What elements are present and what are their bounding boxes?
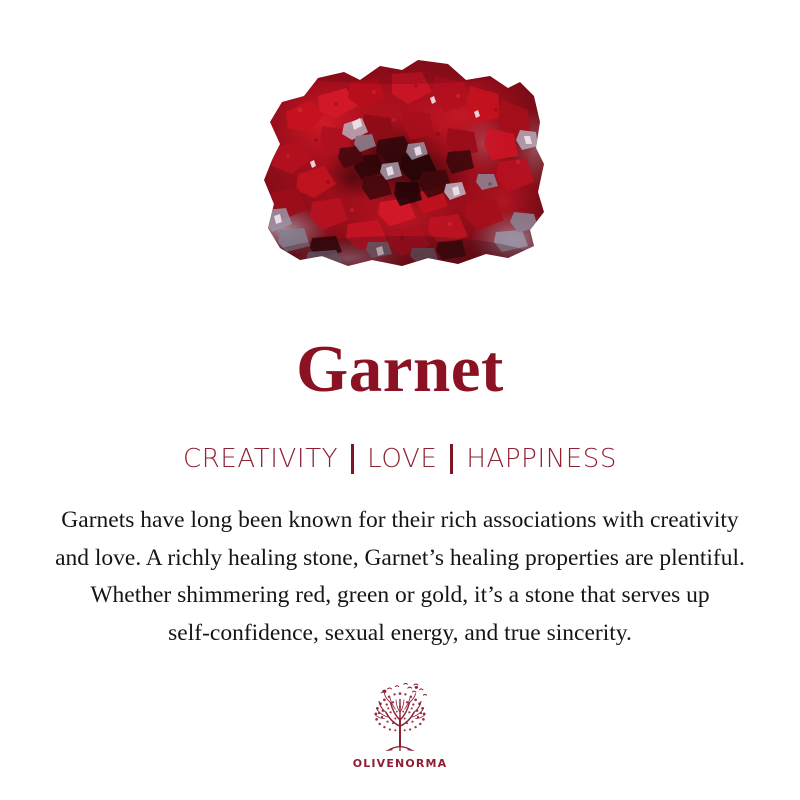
hero-image-area bbox=[0, 0, 800, 300]
page-title: Garnet bbox=[0, 336, 800, 403]
keyword-happiness: HAPPINESS bbox=[466, 445, 617, 474]
brand-wordmark: OLIVENORMA bbox=[353, 757, 447, 770]
keyword-separator-1 bbox=[351, 444, 354, 474]
keyword-creativity: CREATIVITY bbox=[183, 445, 338, 474]
description-line: Whether shimmering red, green or gold, i… bbox=[0, 577, 800, 615]
description-line: Garnets have long been known for their r… bbox=[0, 502, 800, 540]
garnet-crystal-cluster-image bbox=[252, 52, 548, 274]
keyword-separator-2 bbox=[450, 444, 453, 474]
keyword-love: LOVE bbox=[367, 445, 437, 474]
description-line: and love. A richly healing stone, Garnet… bbox=[0, 540, 800, 578]
brand-logo: OLIVENORMA bbox=[0, 678, 800, 770]
description-text: Garnets have long been known for their r… bbox=[0, 502, 800, 652]
tree-of-life-icon bbox=[361, 678, 439, 756]
keyword-line: CREATIVITYLOVEHAPPINESS bbox=[0, 444, 800, 474]
gemstone-info-card: Garnet CREATIVITYLOVEHAPPINESS Garnets h… bbox=[0, 0, 800, 800]
description-line: self-confidence, sexual energy, and true… bbox=[0, 615, 800, 653]
